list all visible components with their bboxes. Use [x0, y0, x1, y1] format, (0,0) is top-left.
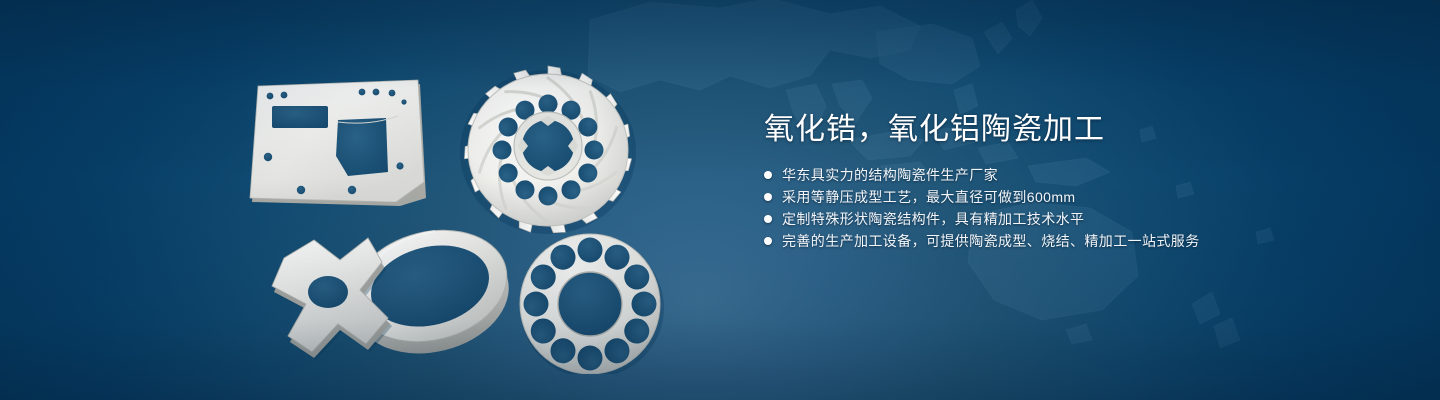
bullet-item-3: 定制特殊形状陶瓷结构件，具有精加工技术水平	[764, 208, 1324, 230]
bullet-item-4: 完善的生产加工设备，可提供陶瓷成型、烧结、精加工一站式服务	[764, 230, 1324, 252]
bullet-dot-icon	[764, 215, 772, 223]
bullet-item-3-label: 定制特殊形状陶瓷结构件，具有精加工技术水平	[782, 208, 1084, 230]
bullet-item-2: 采用等静压成型工艺，最大直径可做到600mm	[764, 186, 1324, 208]
bullet-item-1-label: 华东具实力的结构陶瓷件生产厂家	[782, 164, 998, 186]
banner-headline: 氧化锆，氧化铝陶瓷加工	[764, 110, 1324, 150]
bullet-dot-icon	[764, 171, 772, 179]
bullet-item-1: 华东具实力的结构陶瓷件生产厂家	[764, 164, 1324, 186]
bullet-dot-icon	[764, 237, 772, 245]
banner-copy: 氧化锆，氧化铝陶瓷加工 华东具实力的结构陶瓷件生产厂家 采用等静压成型工艺，最大…	[764, 110, 1324, 252]
bullet-item-4-label: 完善的生产加工设备，可提供陶瓷成型、烧结、精加工一站式服务	[782, 230, 1200, 252]
bullet-item-2-label: 采用等静压成型工艺，最大直径可做到600mm	[782, 186, 1075, 208]
hero-banner: 氧化锆，氧化铝陶瓷加工 华东具实力的结构陶瓷件生产厂家 采用等静压成型工艺，最大…	[0, 0, 1440, 400]
bullet-dot-icon	[764, 193, 772, 201]
banner-bullet-list: 华东具实力的结构陶瓷件生产厂家 采用等静压成型工艺，最大直径可做到600mm 定…	[764, 164, 1324, 252]
